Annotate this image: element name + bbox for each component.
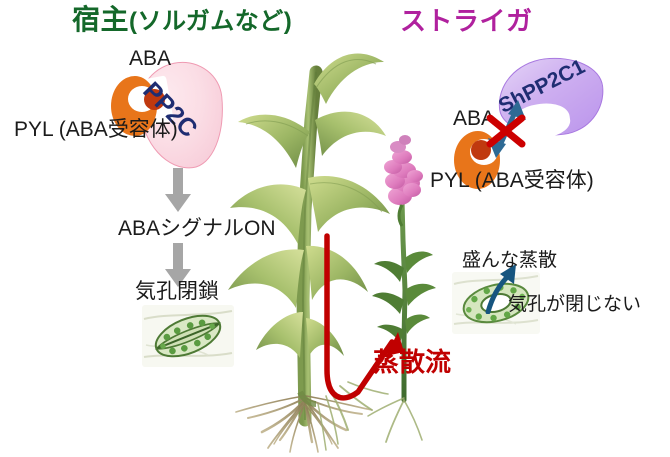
panel-title-host-main: 宿主 — [72, 4, 129, 35]
aba-signal-on-label: ABAシグナルON — [118, 218, 276, 239]
stomata-not-closing-label: 気孔が閉じない — [508, 295, 641, 314]
vigorous-transpiration-label: 盛んな蒸散 — [462, 251, 557, 270]
panel-title-host: 宿主(ソルガムなど) — [72, 6, 292, 34]
pyl-label-host: PYL (ABA受容体) — [14, 119, 178, 140]
closed-stoma-illustration — [142, 305, 234, 367]
blocked-interaction-marker — [484, 96, 534, 160]
red-x-blocking-mark — [490, 118, 522, 144]
panel-title-host-sub: (ソルガムなど) — [129, 8, 292, 35]
stomatal-closure-label: 気孔閉鎖 — [135, 281, 219, 302]
aba-label-host: ABA — [129, 48, 171, 69]
down-arrow-icon-1 — [165, 168, 191, 212]
panel-title-striga: ストライガ — [400, 8, 533, 34]
pyl-label-striga: PYL (ABA受容体) — [430, 170, 594, 191]
figure-canvas: 宿主(ソルガムなど) ストライガ PP2C ABA PYL (ABA受容体) A… — [0, 0, 670, 457]
transpiration-flow-label: 蒸散流 — [373, 349, 451, 375]
